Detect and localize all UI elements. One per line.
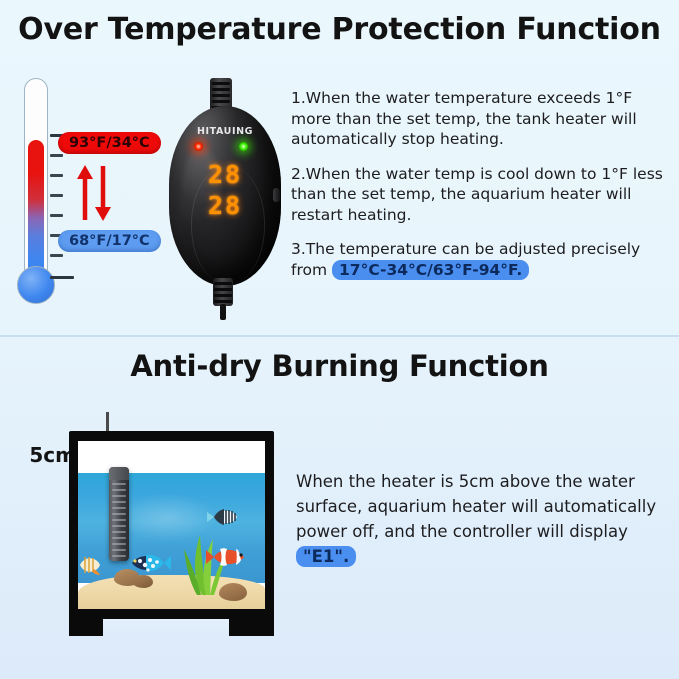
- heater-rod-cap: [109, 467, 129, 480]
- thermometer-graphic: [16, 78, 62, 318]
- rock: [219, 583, 247, 601]
- fish-striped: [206, 507, 240, 527]
- tick-mark: [50, 174, 63, 177]
- red-led-icon: [194, 142, 203, 151]
- tick-mark: [50, 254, 63, 257]
- display-current-temp: 28: [165, 160, 285, 189]
- tank-stand-gap: [103, 619, 229, 637]
- anti-dry-description: When the heater is 5cm above the water s…: [296, 469, 668, 569]
- brand-label: HITAUING: [165, 126, 285, 137]
- over-temperature-section: Over Temperature Protection Function 93°…: [0, 0, 679, 334]
- rock: [133, 575, 153, 588]
- anti-dry-text: When the heater is 5cm above the water s…: [296, 472, 656, 541]
- heater-controller-device: HITAUING 28 28: [165, 78, 285, 323]
- heater-rod-ribs: [112, 483, 126, 557]
- bottom-cable: [220, 304, 226, 320]
- feature-paragraph-2: 2.When the water temp is cool down to 1°…: [291, 164, 673, 226]
- bottom-cable-gland: [213, 278, 233, 306]
- error-code-highlight: "E1".: [296, 546, 356, 567]
- aquarium-illustration: [63, 424, 293, 646]
- display-set-temp: 28: [165, 191, 285, 220]
- section-divider: [0, 335, 679, 337]
- temperature-range-arrows: [72, 164, 120, 222]
- tick-mark: [50, 154, 63, 157]
- tick-mark: [50, 276, 74, 279]
- feature-description-list: 1.When the water temperature exceeds 1°F…: [291, 88, 673, 294]
- section-2-title: Anti-dry Burning Function: [0, 349, 679, 383]
- temperature-range-highlight: 17°C-34°C/63°F-94°F.: [332, 260, 529, 280]
- feature-paragraph-1: 1.When the water temperature exceeds 1°F…: [291, 88, 673, 150]
- feature-paragraph-3: 3.The temperature can be adjusted precis…: [291, 239, 673, 280]
- min-temperature-badge: 68°F/17°C: [58, 230, 161, 252]
- tick-mark: [50, 214, 63, 217]
- tank-interior: [78, 441, 265, 609]
- down-arrow-icon: [95, 166, 111, 221]
- fish-yellow: [78, 553, 102, 577]
- infographic-page: Over Temperature Protection Function 93°…: [0, 0, 679, 679]
- air-gap: [78, 441, 265, 473]
- fish-spotted: [126, 551, 172, 575]
- side-button[interactable]: [273, 188, 280, 202]
- up-arrow-icon: [77, 165, 93, 220]
- green-led-icon: [239, 142, 248, 151]
- fish-clownfish: [204, 545, 246, 569]
- heater-rod: [109, 467, 129, 561]
- page-title: Over Temperature Protection Function: [0, 12, 679, 47]
- max-temperature-badge: 93°F/34°C: [58, 132, 161, 154]
- tick-mark: [50, 194, 63, 197]
